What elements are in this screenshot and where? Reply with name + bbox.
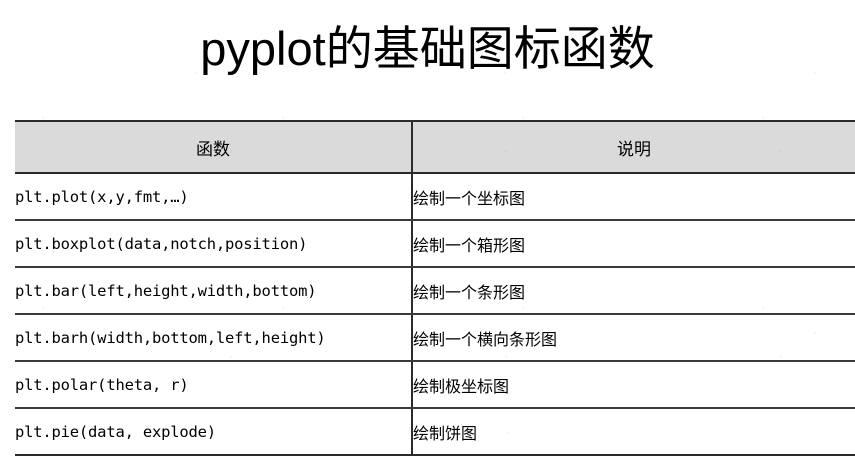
- cell-function: plt.bar(left,height,width,bottom): [15, 267, 412, 314]
- table-header-row: 函数 说明: [15, 121, 855, 173]
- cell-function: plt.polar(theta, r): [15, 361, 412, 408]
- page-title: pyplot的基础图标函数: [0, 18, 855, 80]
- cell-function: plt.pie(data, explode): [15, 408, 412, 455]
- table-row: plt.barh(width,bottom,left,height) 绘制一个横…: [15, 314, 855, 361]
- table-row: plt.boxplot(data,notch,position) 绘制一个箱形图: [15, 220, 855, 267]
- cell-description: 绘制一个坐标图: [412, 173, 855, 220]
- table-row: plt.pie(data, explode) 绘制饼图: [15, 408, 855, 455]
- cell-description: 绘制一个横向条形图: [412, 314, 855, 361]
- function-table-container: 函数 说明 plt.plot(x,y,fmt,…) 绘制一个坐标图 plt.bo…: [15, 120, 855, 456]
- column-header-function: 函数: [15, 121, 412, 173]
- cell-description: 绘制饼图: [412, 408, 855, 455]
- page-root: pyplot的基础图标函数 函数 说明 plt.plot(x,y,fmt,…) …: [0, 0, 855, 461]
- table-row: plt.polar(theta, r) 绘制极坐标图: [15, 361, 855, 408]
- function-table: 函数 说明 plt.plot(x,y,fmt,…) 绘制一个坐标图 plt.bo…: [15, 120, 855, 456]
- table-row: plt.plot(x,y,fmt,…) 绘制一个坐标图: [15, 173, 855, 220]
- cell-description: 绘制一个箱形图: [412, 220, 855, 267]
- table-head: 函数 说明: [15, 121, 855, 173]
- table-row: plt.bar(left,height,width,bottom) 绘制一个条形…: [15, 267, 855, 314]
- cell-function: plt.plot(x,y,fmt,…): [15, 173, 412, 220]
- cell-description: 绘制一个条形图: [412, 267, 855, 314]
- cell-function: plt.boxplot(data,notch,position): [15, 220, 412, 267]
- cell-description: 绘制极坐标图: [412, 361, 855, 408]
- cell-function: plt.barh(width,bottom,left,height): [15, 314, 412, 361]
- table-body: plt.plot(x,y,fmt,…) 绘制一个坐标图 plt.boxplot(…: [15, 173, 855, 455]
- column-header-description: 说明: [412, 121, 855, 173]
